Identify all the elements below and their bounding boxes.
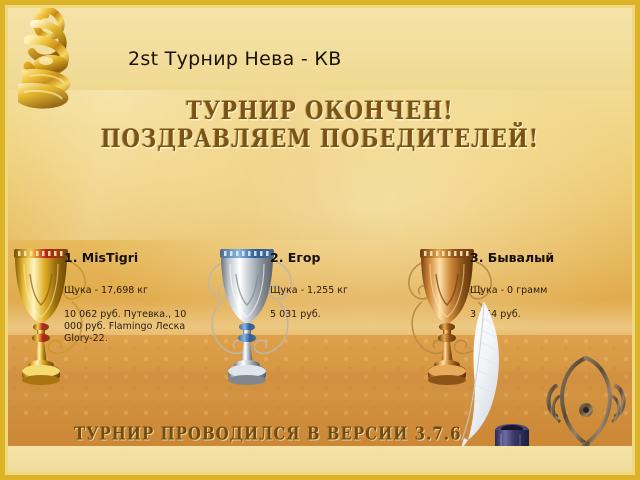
winner-name: 1. MisTigri (64, 250, 204, 265)
winner-name: 2. Егор (270, 250, 410, 265)
winner-catch: Щука - 1,255 кг (270, 285, 410, 296)
winner-name: 3. Бывалый (470, 250, 610, 265)
winner-prize: 10 062 руб. Путевка., 10 000 руб. Flamin… (64, 309, 196, 345)
winner-catch: Щука - 0 грамм (470, 285, 610, 296)
winner-catch: Щука - 17,698 кг (64, 285, 204, 296)
golden-sculpture-icon (4, 4, 100, 114)
banner-line-2: ПОЗДРАВЛЯЕМ ПОБЕДИТЕЛЕЙ! (0, 126, 640, 153)
tournament-results-screen: 2st Турнир Нева - КВ (0, 0, 640, 480)
page-title: 2st Турнир Нева - КВ (128, 48, 342, 70)
winner-details-2: 2. Егор Щука - 1,255 кг 5 031 руб. (270, 250, 410, 321)
winner-prize: 5 031 руб. (270, 309, 402, 321)
winner-entry-2: 2. Егор Щука - 1,255 кг 5 031 руб. (198, 232, 408, 402)
version-footer-text: ТУРНИР ПРОВОДИЛСЯ В ВЕРСИИ 3.7.6 (74, 423, 461, 444)
winner-entry-1: 1. MisTigri Щука - 17,698 кг 10 062 руб.… (0, 232, 202, 402)
footer-band (8, 446, 632, 472)
winner-details-1: 1. MisTigri Щука - 17,698 кг 10 062 руб.… (64, 250, 204, 345)
